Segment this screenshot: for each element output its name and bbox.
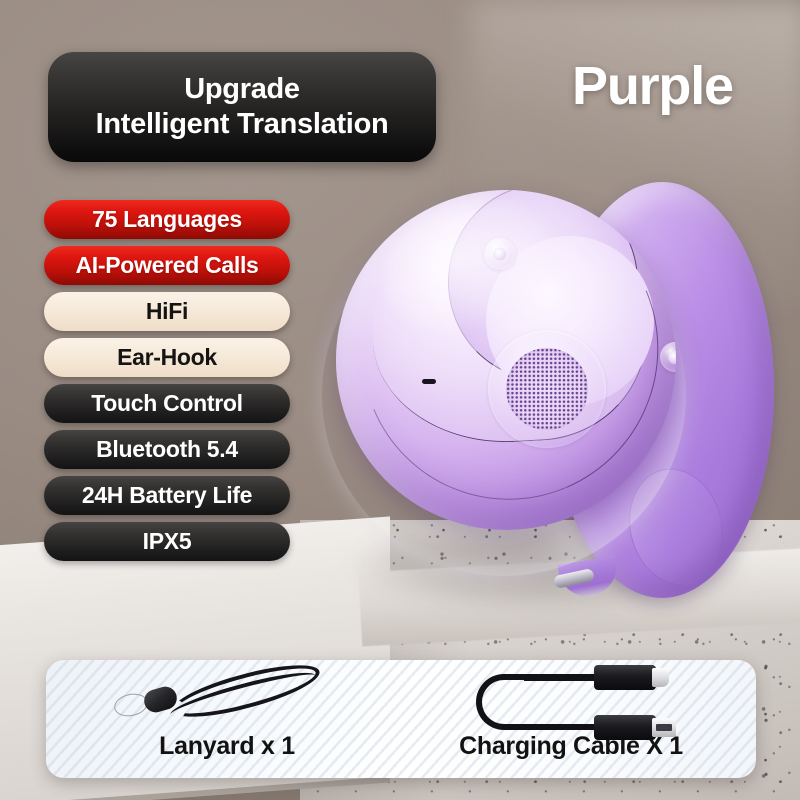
accessories-panel: Lanyard x 1 Charging Cable X 1 <box>46 660 756 778</box>
usb-c-plug-housing <box>594 665 656 690</box>
feature-badge-list: 75 Languages AI-Powered Calls HiFi Ear-H… <box>44 200 290 561</box>
dome-core <box>668 351 676 364</box>
headline-banner: Upgrade Intelligent Translation <box>48 52 436 162</box>
cable-bend <box>476 674 548 730</box>
cable-arm-top <box>524 674 602 681</box>
case-body-sphere <box>336 190 676 530</box>
accessory-label-lanyard: Lanyard x 1 <box>159 734 295 759</box>
color-variant-title: Purple <box>572 55 733 117</box>
accessory-item-charging-cable: Charging Cable X 1 <box>398 660 744 778</box>
accessory-item-lanyard: Lanyard x 1 <box>62 660 392 778</box>
product-image <box>318 168 780 620</box>
product-listing-image: Upgrade Intelligent Translation Purple 7… <box>0 0 800 800</box>
headline-line-1: Upgrade <box>184 73 300 107</box>
headline-line-2: Intelligent Translation <box>96 108 389 142</box>
dome-core <box>397 512 410 525</box>
lanyard-icon <box>62 660 392 734</box>
gloss-dome-left-icon <box>388 502 420 530</box>
feature-badge-ai-powered-calls: AI-Powered Calls <box>44 246 290 285</box>
feature-badge-ipx5: IPX5 <box>44 522 290 561</box>
feature-badge-ear-hook: Ear-Hook <box>44 338 290 377</box>
gloss-dome-right-icon <box>660 342 676 372</box>
feature-badge-touch-control: Touch Control <box>44 384 290 423</box>
feature-badge-hifi: HiFi <box>44 292 290 331</box>
cable-arm-bottom <box>524 724 602 731</box>
usb-a-plug-housing <box>594 715 656 740</box>
charging-cable-icon <box>398 660 744 734</box>
feature-badge-bluetooth: Bluetooth 5.4 <box>44 430 290 469</box>
led-indicator <box>422 379 436 384</box>
usb-c-plug-tip <box>652 668 669 687</box>
usb-a-slot <box>656 724 672 731</box>
speaker-grille <box>506 348 588 430</box>
feature-badge-battery-life: 24H Battery Life <box>44 476 290 515</box>
feature-badge-75-languages: 75 Languages <box>44 200 290 239</box>
